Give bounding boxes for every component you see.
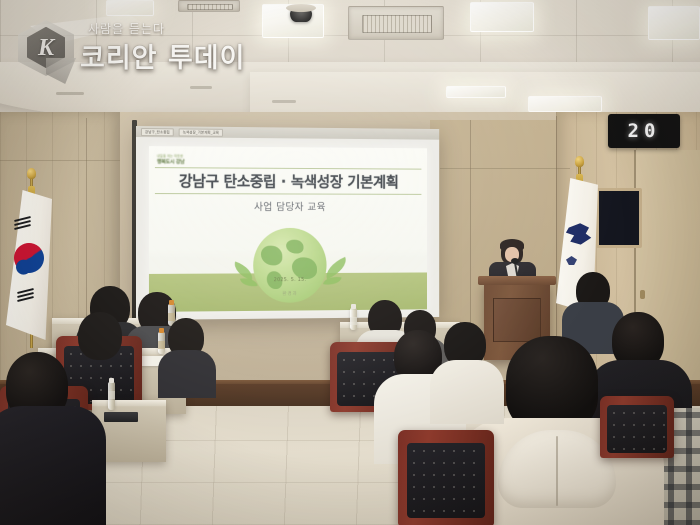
presentation-slide: 내일을 여는 따뜻한 행복도시 강남 강남구 탄소중립 · 녹색성장 기본계획 … <box>149 146 427 312</box>
water-bottle-far-2 <box>350 308 357 330</box>
hood-seam <box>556 436 558 506</box>
chair-pad <box>607 405 668 453</box>
ceiling-light-4 <box>106 0 154 16</box>
continent-2 <box>286 240 303 254</box>
dome-camera-icon <box>290 8 312 22</box>
gangnam-logo-line2: 행복도시 강남 <box>157 158 193 165</box>
slide-rule-mid <box>155 193 421 195</box>
gangnam-logo: 내일을 여는 따뜻한 행복도시 강남 <box>157 152 193 165</box>
clock-value: 20 <box>628 120 661 142</box>
ceiling-slot-2 <box>190 86 212 89</box>
slide-rule-top <box>155 167 421 170</box>
podium-front-panel <box>493 298 541 342</box>
projected-window-titlebar: 강남구_탄소중립 녹색성장_기본계획_교육 <box>136 126 439 140</box>
water-bottle-mid-1 <box>158 332 165 354</box>
left-flag-finial <box>27 168 36 179</box>
ceiling-ac-vent-2 <box>178 0 240 12</box>
slide-date: 2025. 5. 15. <box>274 277 307 283</box>
wall-seam-1 <box>470 120 471 330</box>
right-flag-finial <box>575 156 584 167</box>
slide-department: 환경과 <box>282 291 297 297</box>
projection-screen: 강남구_탄소중립 녹색성장_기본계획_교육 내일을 여는 따뜻한 행복도시 강남… <box>136 126 439 320</box>
ceiling-ac-vent-1 <box>348 6 444 40</box>
chair-front-right <box>398 430 494 525</box>
ceiling-light-5 <box>446 86 506 98</box>
wall-line-2 <box>0 160 120 161</box>
ceiling-slot-3 <box>272 100 296 103</box>
chair-pad <box>407 443 486 518</box>
attendee-mid-left-head <box>78 312 122 360</box>
water-bottle-front-1 <box>108 382 115 410</box>
desk-top <box>92 400 166 406</box>
slide-subtitle: 사업 담당자 교육 <box>149 198 427 213</box>
desk-nameplate <box>104 412 138 422</box>
wall-line-1 <box>440 168 570 169</box>
microphone-icon <box>511 258 519 264</box>
ceiling-light-2 <box>470 2 534 32</box>
door-handle[interactable] <box>640 290 645 299</box>
conference-room-photo: 20 강남구_탄소중립 녹색성장_기본계획_교육 내일을 여는 따뜻한 행복도시… <box>0 0 700 525</box>
wall-clock-display: 20 <box>608 114 680 148</box>
projected-tab-right: 녹색성장_기본계획_교육 <box>179 128 223 136</box>
attendee-front-left-body <box>0 406 106 525</box>
wall-seam-2 <box>556 116 557 366</box>
slide-globe-graphic: 2025. 5. 15. 환경과 <box>231 232 349 303</box>
attendee-left-center-body <box>158 350 216 398</box>
continent-3 <box>292 257 317 279</box>
ceiling <box>0 0 700 118</box>
continent-1 <box>261 246 282 266</box>
wall-display-panel <box>596 188 642 248</box>
projected-tab-left: 강남구_탄소중립 <box>141 128 174 136</box>
attendee-mid-right-body <box>430 360 504 424</box>
ceiling-light-3 <box>648 6 700 40</box>
ceiling-slot-1 <box>56 92 84 95</box>
ceiling-light-6 <box>528 96 602 112</box>
wall-seam-3 <box>86 118 87 318</box>
slide-title: 강남구 탄소중립 · 녹색성장 기본계획 <box>149 170 427 192</box>
chair-mid-right <box>600 396 674 458</box>
podium-top <box>478 276 556 285</box>
